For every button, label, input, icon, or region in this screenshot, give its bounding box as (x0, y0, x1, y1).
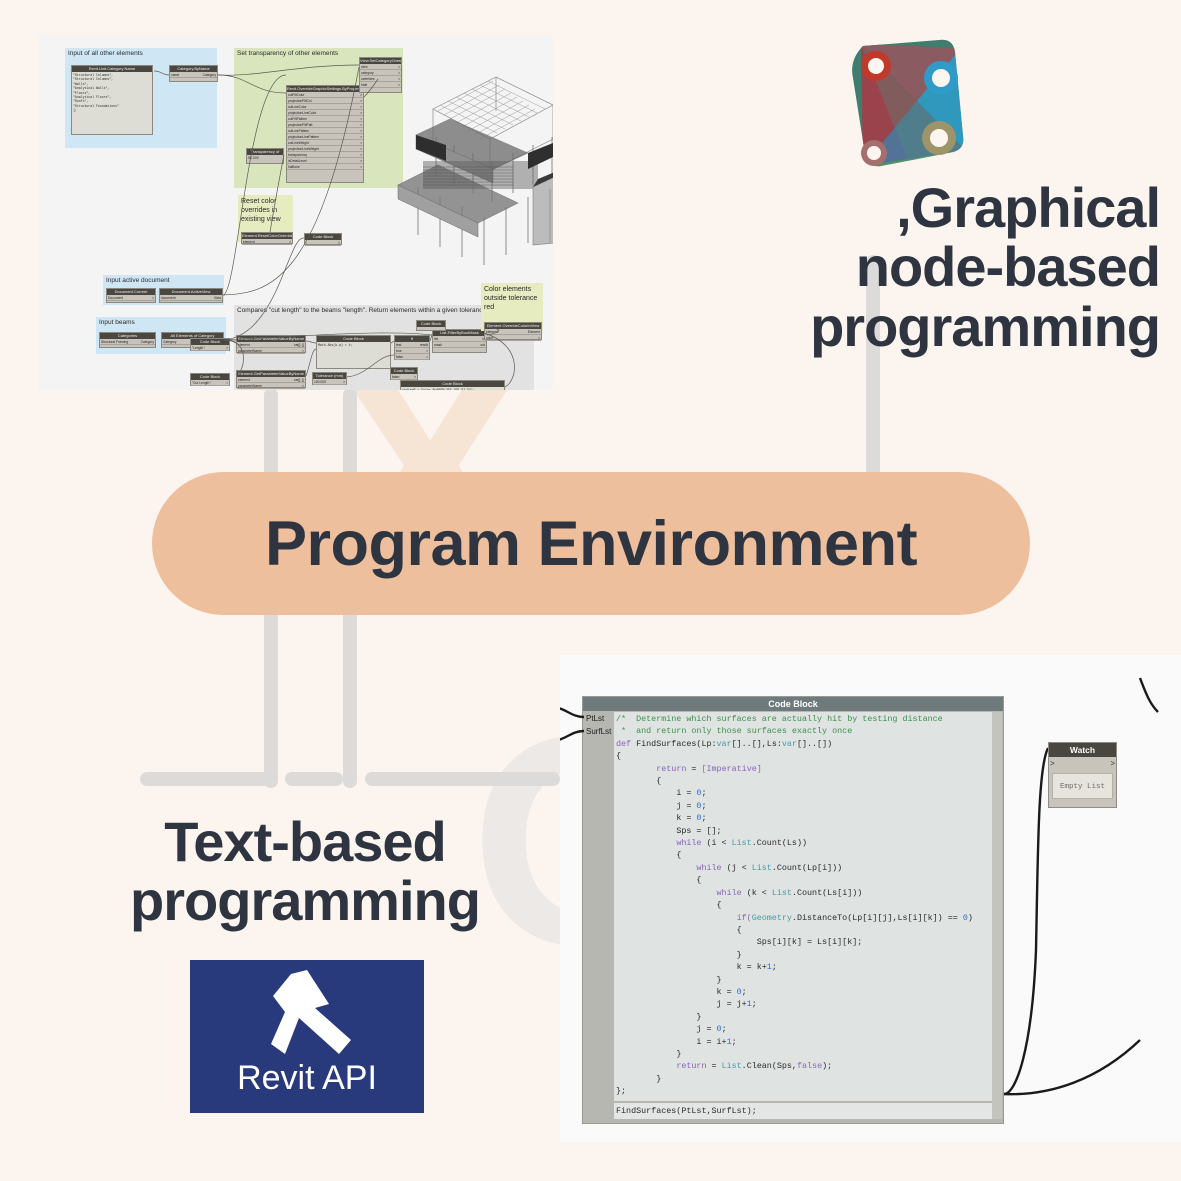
program-environment-pill: Program Environment (152, 472, 1030, 615)
watch-node-ports: > > (1049, 757, 1116, 771)
revit-api-logo: Revit API (190, 960, 424, 1113)
graphical-branch-heading: ,Graphical node-based programming (650, 178, 1160, 356)
page-title: Program Environment (265, 508, 917, 580)
connector-horizontal-3 (365, 772, 560, 786)
dynamo-graph-screenshot: Input of all other elements Revit.Unit.C… (38, 35, 553, 390)
connector-horizontal-2 (285, 772, 343, 786)
dynamo-logo (843, 26, 968, 174)
watch-node[interactable]: Watch > > Empty List (1048, 742, 1117, 808)
watch-in-port[interactable]: > (1049, 757, 1056, 771)
watch-out-port[interactable]: > (1109, 757, 1116, 771)
structural-3d-model (378, 57, 553, 287)
text-branch-heading: Text-based programming (60, 812, 550, 931)
code-block-output-wires (990, 650, 1181, 1120)
revit-arrow-icon (255, 966, 360, 1061)
infographic-canvas: X O Input of all other elements Revit.Un… (0, 0, 1181, 1181)
connector-horizontal-1 (140, 772, 270, 786)
revit-api-label: Revit API (237, 1059, 377, 1098)
watch-node-value: Empty List (1052, 773, 1113, 799)
watch-node-title: Watch (1049, 743, 1116, 757)
